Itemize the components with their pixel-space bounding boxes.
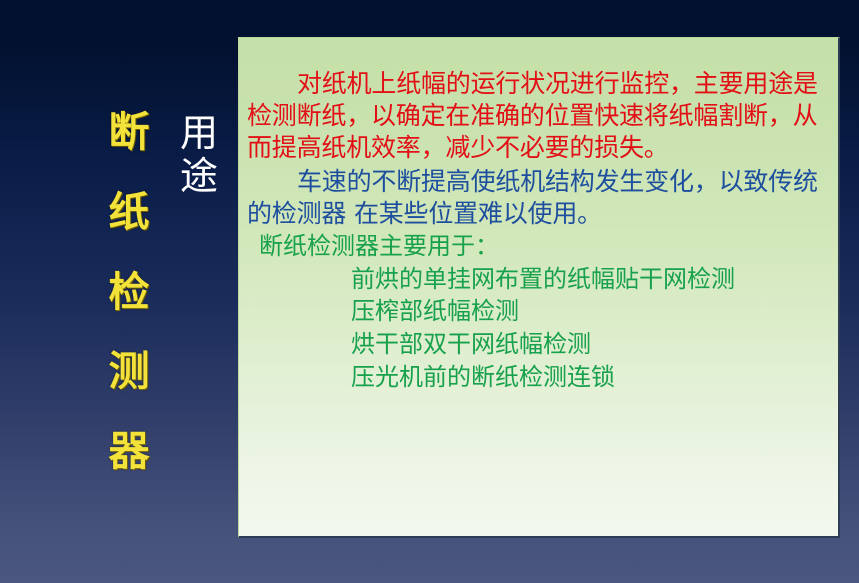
list-item: 压榨部纸幅检测: [351, 295, 830, 328]
list-item: 压光机前的断纸检测连锁: [351, 361, 830, 394]
content-panel: 对纸机上纸幅的运行状况进行监控，主要用途是检测断纸，以确定在准确的位置快速将纸幅…: [238, 37, 840, 538]
subtitle-char-2: 途: [174, 155, 224, 198]
vertical-title-char-4: 测: [109, 351, 150, 392]
slide-subtitle: 用 途: [174, 112, 224, 197]
vertical-title-char-2: 纸: [109, 192, 150, 233]
vertical-title-char-1: 断: [109, 112, 150, 153]
paragraph-purpose: 对纸机上纸幅的运行状况进行监控，主要用途是检测断纸，以确定在准确的位置快速将纸幅…: [247, 68, 830, 164]
vertical-title-char-5: 器: [109, 431, 150, 472]
uses-list: 前烘的单挂网布置的纸幅贴干网检测 压榨部纸幅检测 烘干部双干网纸幅检测 压光机前…: [247, 263, 830, 394]
presentation-slide: 断 纸 检 测 器 用 途 对纸机上纸幅的运行状况进行监控，主要用途是检测断纸，…: [0, 0, 859, 583]
list-item: 前烘的单挂网布置的纸幅贴干网检测: [351, 263, 830, 296]
uses-heading: 断纸检测器主要用于：: [247, 231, 830, 262]
list-item: 烘干部双干网纸幅检测: [351, 328, 830, 361]
paragraph-speed: 车速的不断提高使纸机结构发生变化，以致传统的检测器 在某些位置难以使用。: [247, 166, 830, 230]
vertical-slide-title: 断 纸 检 测 器: [98, 112, 160, 472]
subtitle-char-1: 用: [174, 112, 224, 155]
vertical-title-char-3: 检: [109, 272, 150, 313]
